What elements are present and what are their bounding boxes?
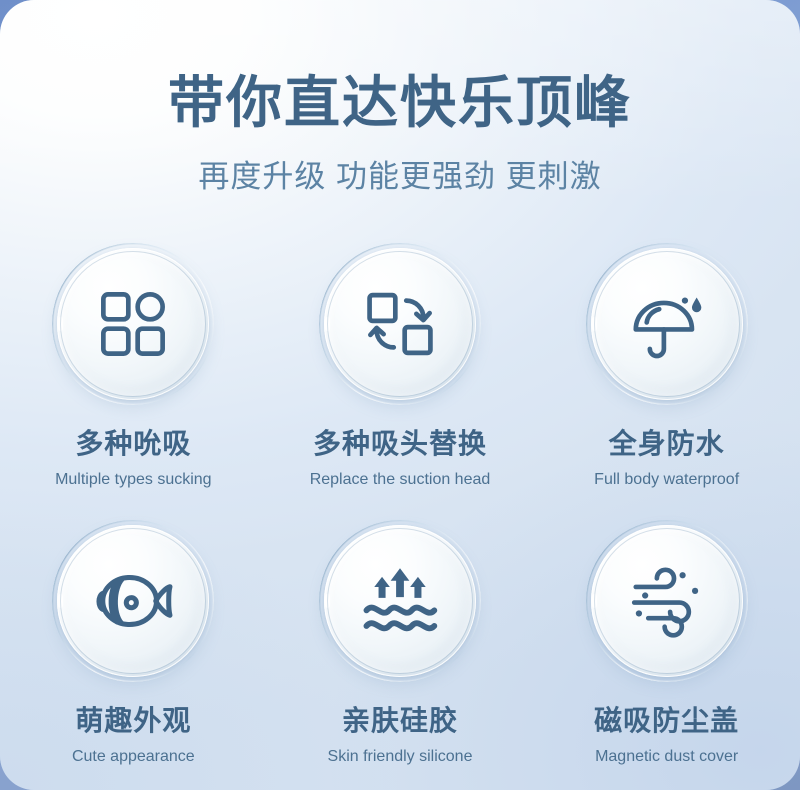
feature-title-en: Full body waterproof xyxy=(594,471,739,489)
feature-item: 多种吮吸 Multiple types sucking xyxy=(0,248,267,489)
feature-grid: 多种吮吸 Multiple types sucking xyxy=(0,248,800,766)
bubble-highlight xyxy=(592,594,597,608)
feature-title-en: Cute appearance xyxy=(72,748,195,766)
feature-icon-bubble xyxy=(324,248,476,400)
waves-arrows-icon xyxy=(361,562,439,640)
fish-icon xyxy=(91,559,175,643)
feature-title-cn: 萌趣外观 xyxy=(75,699,191,739)
feature-title-en: Multiple types sucking xyxy=(55,471,212,489)
feature-item: 磁吸防尘盖 Magnetic dust cover xyxy=(533,525,800,766)
swap-squares-icon xyxy=(361,285,439,363)
umbrella-waterproof-icon xyxy=(628,285,706,363)
feature-icon-bubble xyxy=(324,525,476,677)
bubble-highlight xyxy=(58,594,63,608)
wind-dust-icon xyxy=(628,562,706,640)
page-subtitle: 再度升级 功能更强劲 更刺激 xyxy=(0,158,800,195)
feature-title-en: Skin friendly silicone xyxy=(328,748,473,766)
bubble-highlight xyxy=(58,317,63,331)
feature-title-cn: 亲肤硅胶 xyxy=(342,699,458,739)
poster-card: 带你直达快乐顶峰 再度升级 功能更强劲 更刺激 多种吮吸 xyxy=(0,0,800,790)
feature-icon-bubble xyxy=(591,248,743,400)
page-title: 带你直达快乐顶峰 xyxy=(0,74,800,133)
bubble-highlight xyxy=(325,594,330,608)
bubble-highlight xyxy=(325,317,330,331)
feature-icon-bubble xyxy=(57,525,209,677)
feature-title-cn: 磁吸防尘盖 xyxy=(594,699,739,739)
shapes-grid-icon xyxy=(94,285,172,363)
feature-title-en: Magnetic dust cover xyxy=(595,748,738,766)
feature-title-cn: 多种吮吸 xyxy=(75,422,191,462)
feature-item: 亲肤硅胶 Skin friendly silicone xyxy=(267,525,534,766)
feature-title-cn: 全身防水 xyxy=(609,422,725,462)
feature-item: 全身防水 Full body waterproof xyxy=(533,248,800,489)
feature-icon-bubble xyxy=(57,248,209,400)
poster-content: 带你直达快乐顶峰 再度升级 功能更强劲 更刺激 多种吮吸 xyxy=(0,0,800,790)
feature-title-en: Replace the suction head xyxy=(310,471,491,489)
feature-item: 萌趣外观 Cute appearance xyxy=(0,525,267,766)
feature-icon-bubble xyxy=(591,525,743,677)
poster-backdrop: 带你直达快乐顶峰 再度升级 功能更强劲 更刺激 多种吮吸 xyxy=(0,0,800,790)
feature-title-cn: 多种吸头替换 xyxy=(313,422,487,462)
bubble-highlight xyxy=(592,317,597,331)
feature-item: 多种吸头替换 Replace the suction head xyxy=(267,248,534,489)
